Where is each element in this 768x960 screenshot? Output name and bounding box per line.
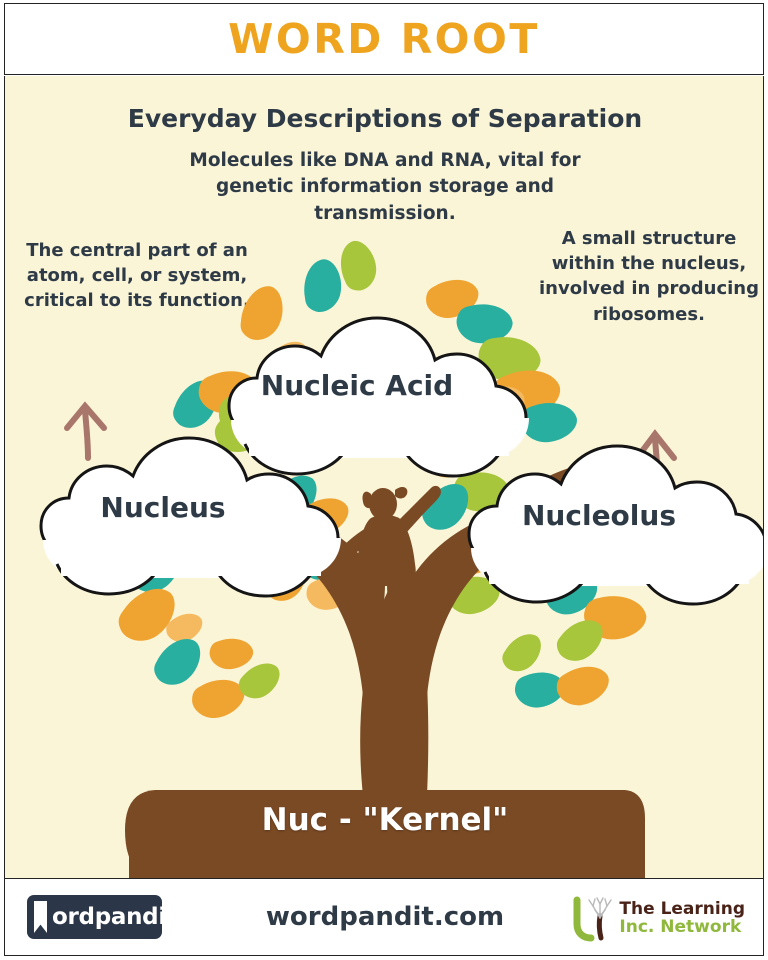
partner-name: The Learning Inc. Network — [619, 900, 745, 936]
tree-u-icon — [569, 894, 615, 942]
footer-bar: ordpandit wordpandit.com The Learning — [4, 878, 764, 956]
wordpandit-logo-text: ordpandit — [52, 904, 162, 930]
infographic-page: WORD ROOT Everyday Descriptions of Separ… — [0, 0, 768, 960]
the-learning-inc-network-logo[interactable]: The Learning Inc. Network — [569, 894, 745, 942]
main-canvas: Everyday Descriptions of Separation Mole… — [4, 76, 764, 878]
header-bar: WORD ROOT — [4, 3, 764, 75]
wordpandit-logo[interactable]: ordpandit — [27, 895, 162, 939]
tree-illustration — [5, 76, 764, 878]
footer-url-text: wordpandit.com — [266, 902, 504, 932]
arrow-up-left — [67, 406, 104, 458]
bookmark-icon — [27, 895, 53, 939]
page-title: WORD ROOT — [228, 19, 540, 60]
root-banner-label: Nuc - "Kernel" — [5, 802, 764, 838]
partner-line-2: Inc. Network — [619, 918, 745, 936]
partner-line-1: The Learning — [619, 900, 745, 918]
